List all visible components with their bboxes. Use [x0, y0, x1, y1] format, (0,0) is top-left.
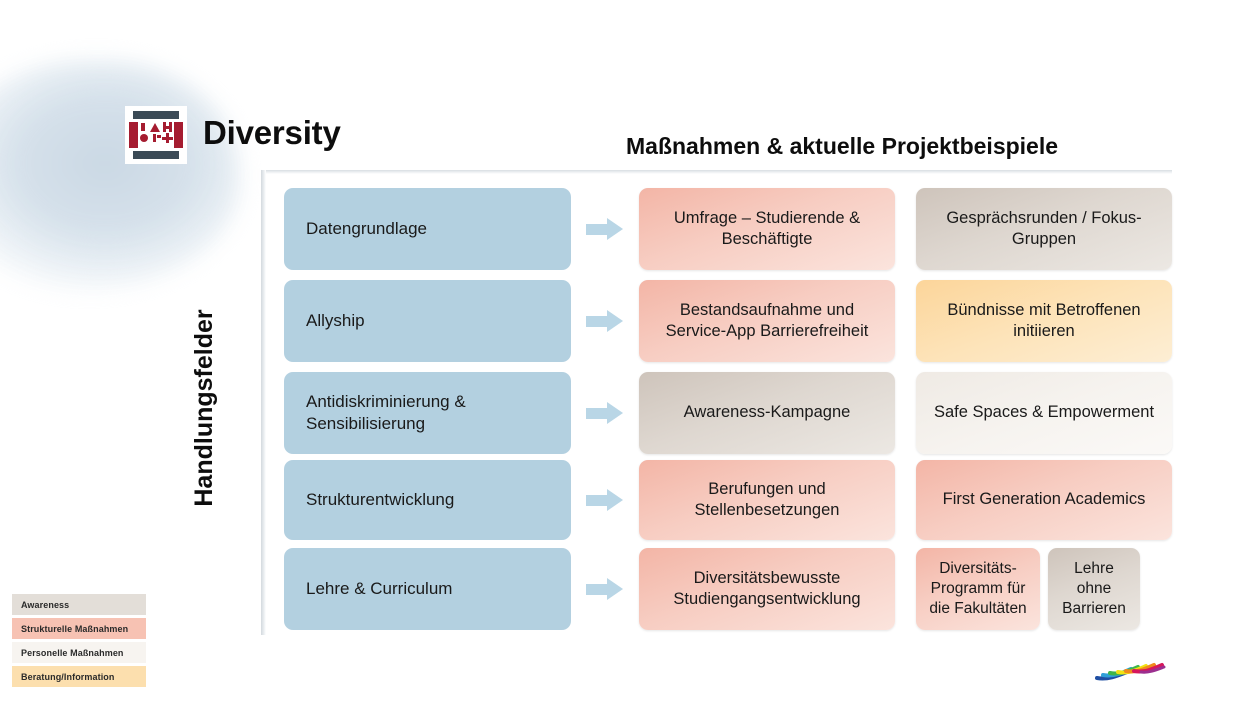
handlungsfeld-box[interactable]: Strukturentwicklung	[284, 460, 571, 540]
logo-side-right	[174, 122, 183, 148]
logo-glyph-plus-h	[162, 137, 173, 140]
arrow-right-icon	[586, 578, 624, 600]
page-title: Diversity	[203, 114, 341, 152]
massnahme-box[interactable]: Safe Spaces & Empowerment	[916, 372, 1172, 454]
massnahme-box[interactable]: Gesprächsrunden / Fokus-Gruppen	[916, 188, 1172, 270]
legend: AwarenessStrukturelle MaßnahmenPersonell…	[12, 594, 146, 690]
background-decoration-blob	[0, 60, 240, 290]
matrix-row: AllyshipBestandsaufnahme und Service-App…	[284, 280, 1174, 362]
handlungsfeld-box[interactable]: Lehre & Curriculum	[284, 548, 571, 630]
massnahme-box[interactable]: Berufungen und Stellenbesetzungen	[639, 460, 895, 540]
logo-glyph-dash	[157, 135, 161, 138]
arrow-right-icon	[586, 310, 624, 332]
logo-side-left	[129, 122, 138, 148]
arrow-head	[607, 578, 623, 600]
matrix-row: StrukturentwicklungBerufungen und Stelle…	[284, 460, 1174, 540]
legend-item: Awareness	[12, 594, 146, 615]
arrow-shaft	[586, 224, 609, 235]
massnahme-box[interactable]: Diversitäts-Programm für die Fakultäten	[916, 548, 1040, 630]
massnahme-box[interactable]: Awareness-Kampagne	[639, 372, 895, 454]
handlungsfeld-box[interactable]: Allyship	[284, 280, 571, 362]
logo-bar-top	[133, 111, 179, 119]
section-title: Maßnahmen & aktuelle Projektbeispiele	[626, 133, 1058, 160]
handlungsfeld-box[interactable]: Antidiskriminierung & Sensibilisierung	[284, 372, 571, 454]
logo-glyph-flag	[141, 123, 145, 131]
arrow-shaft	[586, 495, 609, 506]
axis-label-handlungsfelder: Handlungsfelder	[192, 268, 222, 548]
matrix-row: Antidiskriminierung & SensibilisierungAw…	[284, 372, 1174, 454]
legend-item: Strukturelle Maßnahmen	[12, 618, 146, 639]
panel-top-divider	[261, 170, 1172, 174]
arrow-shaft	[586, 316, 609, 327]
arrow-right-icon	[586, 489, 624, 511]
massnahme-box[interactable]: Bestandsaufnahme und Service-App Barrier…	[639, 280, 895, 362]
rainbow-swoosh-svg	[1093, 660, 1169, 686]
massnahme-box[interactable]: Diversitätsbewusste Studiengangsentwickl…	[639, 548, 895, 630]
arrow-shaft	[586, 408, 609, 419]
rainbow-swoosh-logo	[1093, 660, 1169, 686]
massnahme-box[interactable]: First Generation Academics	[916, 460, 1172, 540]
matrix-row: DatengrundlageUmfrage – Studierende & Be…	[284, 188, 1174, 270]
hochschule-logo	[125, 106, 187, 164]
arrow-shaft	[586, 584, 609, 595]
logo-middle-band	[129, 122, 183, 148]
logo-glyph-group	[140, 122, 172, 148]
arrow-right-icon	[586, 218, 624, 240]
massnahme-box[interactable]: Umfrage – Studierende & Beschäftigte	[639, 188, 895, 270]
logo-glyph-h-cross	[163, 126, 172, 129]
matrix-row: Lehre & CurriculumDiversitätsbewusste St…	[284, 548, 1174, 630]
massnahme-box[interactable]: Lehre ohne Barrieren	[1048, 548, 1140, 630]
arrow-head	[607, 310, 623, 332]
arrow-head	[607, 218, 623, 240]
logo-glyph-dot	[140, 134, 148, 142]
panel-left-divider	[261, 170, 266, 635]
logo-bar-bottom	[133, 151, 179, 159]
arrow-head	[607, 402, 623, 424]
arrow-head	[607, 489, 623, 511]
massnahme-box[interactable]: Bündnisse mit Betroffenen initiieren	[916, 280, 1172, 362]
arrow-right-icon	[586, 402, 624, 424]
logo-glyph-triangle	[150, 123, 160, 132]
legend-item: Personelle Maßnahmen	[12, 642, 146, 663]
handlungsfeld-box[interactable]: Datengrundlage	[284, 188, 571, 270]
legend-item: Beratung/Information	[12, 666, 146, 687]
logo-glyph-bar-small	[153, 134, 156, 142]
